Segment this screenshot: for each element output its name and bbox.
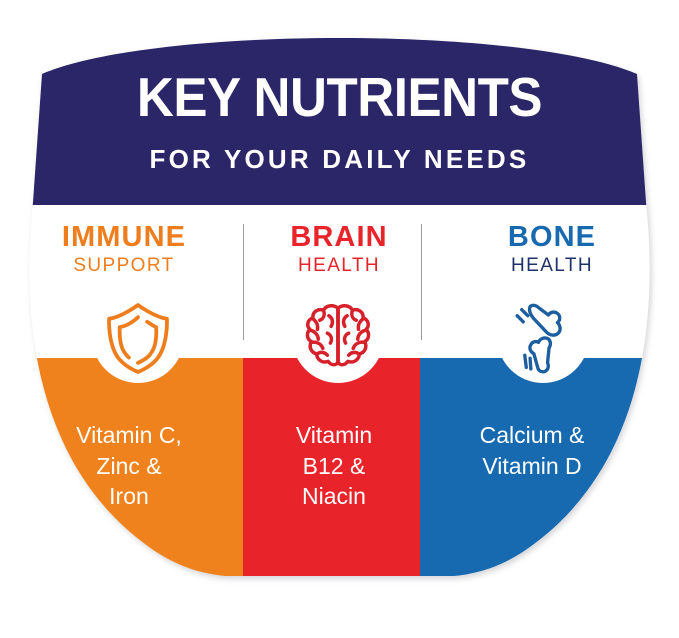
column-bone: BONE HEALTH (448, 222, 656, 277)
infographic-shield-badge: KEY NUTRIENTS FOR YOUR DAILY NEEDS IMMUN… (0, 0, 679, 638)
page-subtitle: FOR YOUR DAILY NEEDS (0, 146, 679, 172)
brain-icon (300, 299, 376, 375)
nutrient-list-immune: Vitamin C, Zinc & Iron (26, 420, 232, 512)
category-subtitle-bone: HEALTH (448, 256, 656, 277)
nutrient-list-brain: Vitamin B12 & Niacin (250, 420, 418, 512)
category-title-immune: IMMUNE (20, 222, 228, 252)
knee-joint-bone-icon (505, 299, 581, 375)
category-title-brain: BRAIN (235, 222, 443, 252)
column-brain: BRAIN HEALTH (235, 222, 443, 277)
page-title: KEY NUTRIENTS (24, 70, 655, 125)
nutrient-list-bone: Calcium & Vitamin D (430, 420, 634, 481)
shield-icon (100, 299, 176, 375)
category-title-bone: BONE (448, 222, 656, 252)
category-subtitle-brain: HEALTH (235, 256, 443, 277)
column-immune: IMMUNE SUPPORT (20, 222, 228, 277)
category-subtitle-immune: SUPPORT (20, 256, 228, 277)
